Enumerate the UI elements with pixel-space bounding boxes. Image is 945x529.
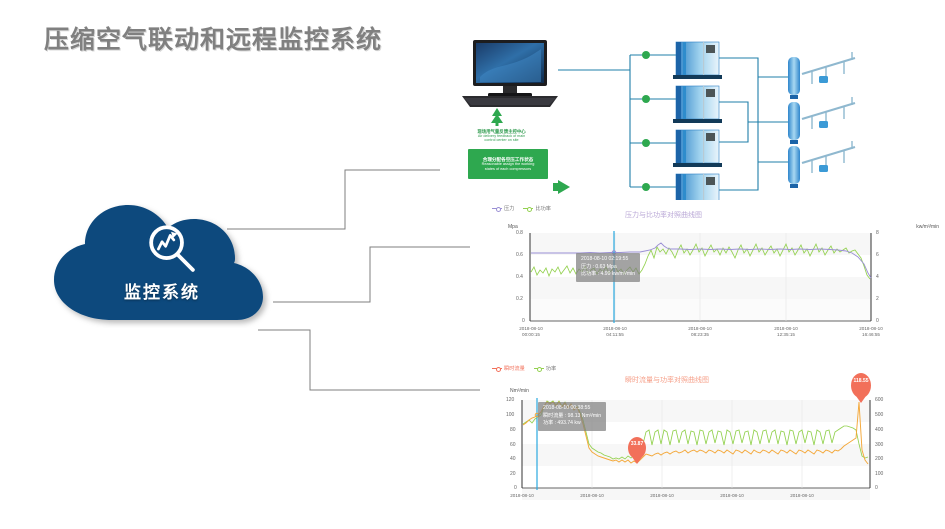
- pipeline-group-3: [802, 141, 855, 173]
- flow-xtick: 2018-08-10: [494, 493, 550, 499]
- pressure-chart: 压力 比功率 压力与比功率对照曲线图 Mpa kw/m³/min: [480, 200, 945, 340]
- flow-ytick: 20: [510, 471, 516, 477]
- system-diagram: 现场用气量反馈主控中心 Air delivery feedback of mai…: [440, 22, 945, 210]
- storage-tank-2: [788, 102, 800, 144]
- pressure-y2tick: 2: [876, 296, 879, 302]
- pressure-y2tick: 6: [876, 252, 879, 258]
- tree-icon: [491, 108, 503, 126]
- flow-xtick: 2018-08-10: [704, 493, 760, 499]
- pressure-ytick: 0.4: [516, 274, 523, 280]
- flow-y2tick: 200: [875, 456, 883, 462]
- storage-tank-1: [788, 57, 800, 99]
- node-indicators: [642, 51, 650, 191]
- flow-ytick: 100: [506, 412, 514, 418]
- pressure-ytick: 0.6: [516, 252, 523, 258]
- green-status-box: 合理分配各空压工作状态 Reasonable assign the workin…: [468, 149, 548, 179]
- magnifier-chart-icon: [143, 220, 201, 278]
- flow-ytick: 80: [510, 427, 516, 433]
- flow-tooltip: 2018-08-10 00:38:55 瞬时流量 : 98.13 Nm³/min…: [538, 402, 606, 431]
- manifold-pipes: [719, 58, 788, 190]
- tooltip-timestamp: 2018-08-10 02:19:55: [581, 256, 635, 264]
- flow-xtick: 2018-08-10: [774, 493, 830, 499]
- tooltip-timestamp: 2018-08-10 00:38:55: [543, 405, 601, 413]
- flow-min-marker[interactable]: 33.87: [628, 437, 646, 459]
- diagram-graphic: [440, 22, 945, 210]
- slide-canvas: 压缩空气联动和远程监控系统 监控系统: [0, 0, 945, 529]
- flow-y2tick: 100: [875, 471, 883, 477]
- flow-ytick: 40: [510, 456, 516, 462]
- air-compressor-2: [673, 86, 722, 123]
- monitoring-cloud[interactable]: 监控系统: [38, 198, 286, 328]
- pressure-xtick: 2018-08-1004:11:55: [587, 326, 643, 337]
- flow-max-marker[interactable]: 118.55: [851, 373, 871, 398]
- tooltip-specific-power-value: 比功率 : 4.99 kw/m³/min: [581, 271, 635, 279]
- flow-ytick: 120: [506, 397, 514, 403]
- pressure-xtick: 2018-08-1016:46:55: [843, 326, 899, 337]
- tooltip-power-value: 功率 : 493.74 kw: [543, 420, 601, 428]
- storage-tank-3: [788, 146, 800, 188]
- flow-y2tick: 0: [875, 485, 878, 491]
- flow-ytick: 60: [510, 442, 516, 448]
- flow-power-chart: 瞬时流量 功率 瞬时流量与功率对照曲线图 Nm³/min: [480, 360, 945, 529]
- pressure-xtick: 2018-08-1012:35:15: [758, 326, 814, 337]
- pressure-ytick: 0: [522, 318, 525, 324]
- pressure-y2tick: 4: [876, 274, 879, 280]
- air-compressor-3: [673, 130, 722, 167]
- flow-y2tick: 500: [875, 412, 883, 418]
- monitor-caption: 现场用气量反馈主控中心 Air delivery feedback of mai…: [449, 129, 554, 143]
- pressure-y2tick: 8: [876, 230, 879, 236]
- right-arrow-icon: [553, 180, 570, 194]
- pressure-ytick: 0.2: [516, 296, 523, 302]
- flow-xtick: 2018-08-10: [564, 493, 620, 499]
- flow-y2tick: 600: [875, 397, 883, 403]
- pressure-xtick: 2018-08-1000:00:15: [503, 326, 559, 337]
- connector-to-chart1: [273, 247, 470, 302]
- pressure-ytick: 0.8: [516, 230, 523, 236]
- page-title: 压缩空气联动和远程监控系统: [44, 20, 382, 56]
- flow-ytick: 0: [514, 485, 517, 491]
- desktop-monitor-icon: [462, 40, 558, 107]
- connector-to-chart2: [258, 330, 480, 390]
- pipeline-group-1: [802, 52, 855, 84]
- flow-xtick: 2018-08-10: [634, 493, 690, 499]
- air-compressor-1: [673, 42, 722, 79]
- pressure-xtick: 2018-08-1008:23:35: [672, 326, 728, 337]
- flow-y2tick: 300: [875, 442, 883, 448]
- pressure-tooltip: 2018-08-10 02:19:55 压力 : 0.63 Mpa 比功率 : …: [576, 253, 640, 282]
- flow-y2tick: 400: [875, 427, 883, 433]
- pipeline-group-2: [802, 97, 855, 129]
- pressure-y2tick: 0: [876, 318, 879, 324]
